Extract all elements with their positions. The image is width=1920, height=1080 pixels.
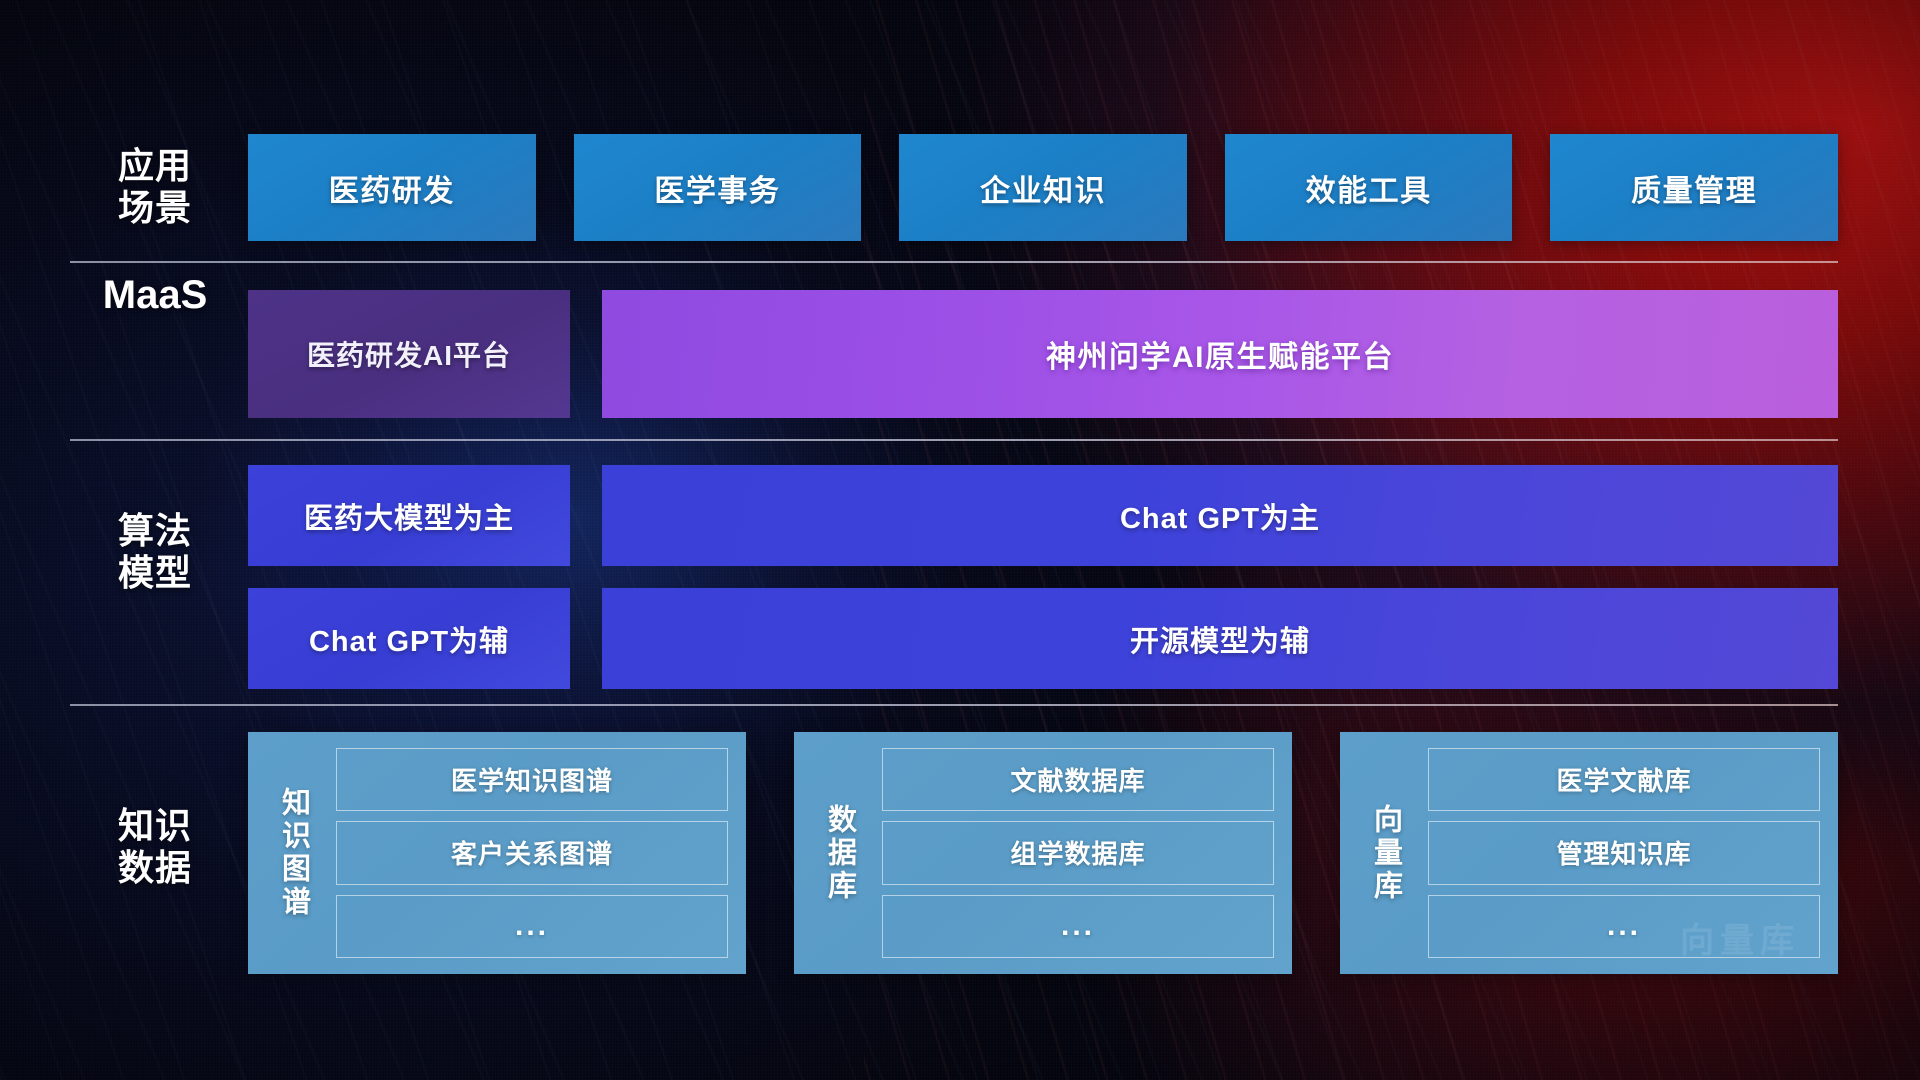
knowledge-item-customer-relation-graph[interactable]: 客户关系图谱 [336,821,728,884]
scenario-box-enterprise-knowledge[interactable]: 企业知识 [899,134,1187,241]
knowledge-panel-label-vector-store: 向量库 [1356,748,1414,958]
scenario-box-quality-management[interactable]: 质量管理 [1550,134,1838,241]
knowledge-item-more-vector-store[interactable]: ... [1428,895,1820,958]
scenario-box-medical-affairs[interactable]: 医学事务 [574,134,862,241]
algorithm-model-row-primary: 医药大模型为主 Chat GPT为主 [248,465,1838,566]
knowledge-panel-label-knowledge-graph: 知识图谱 [264,748,322,958]
maas-box-shenzhou-platform[interactable]: 神州问学AI原生赋能平台 [602,290,1838,418]
knowledge-item-list-knowledge-graph: 医学知识图谱 客户关系图谱 ... [336,748,728,958]
row-divider-3 [70,704,1838,706]
row-label-application-scenarios: 应用 场景 [70,145,240,230]
knowledge-panel-label-database: 数据库 [810,748,868,958]
maas-box-pharma-ai-platform[interactable]: 医药研发AI平台 [248,290,570,418]
row-label-algorithm-model: 算法 模型 [70,510,240,595]
algo-box-chatgpt-secondary[interactable]: Chat GPT为辅 [248,588,570,689]
knowledge-data-panels: 知识图谱 医学知识图谱 客户关系图谱 ... 数据库 文献数据库 组学数据库 .… [248,732,1838,974]
knowledge-item-more-database[interactable]: ... [882,895,1274,958]
knowledge-item-medical-literature-store[interactable]: 医学文献库 [1428,748,1820,811]
scenario-box-pharma-rd[interactable]: 医药研发 [248,134,536,241]
knowledge-item-list-database: 文献数据库 组学数据库 ... [882,748,1274,958]
application-scenario-boxes: 医药研发 医学事务 企业知识 效能工具 质量管理 [248,134,1838,241]
knowledge-item-omics-database[interactable]: 组学数据库 [882,821,1274,884]
algorithm-model-row-secondary: Chat GPT为辅 开源模型为辅 [248,588,1838,689]
knowledge-panel-database[interactable]: 数据库 文献数据库 组学数据库 ... [794,732,1292,974]
algorithm-model-grid: 医药大模型为主 Chat GPT为主 Chat GPT为辅 开源模型为辅 [248,465,1838,689]
scenario-box-efficiency-tools[interactable]: 效能工具 [1225,134,1513,241]
knowledge-item-more-knowledge-graph[interactable]: ... [336,895,728,958]
algo-box-chatgpt-primary[interactable]: Chat GPT为主 [602,465,1838,566]
knowledge-item-list-vector-store: 医学文献库 管理知识库 ... [1428,748,1820,958]
row-divider-2 [70,439,1838,441]
knowledge-item-management-knowledge-store[interactable]: 管理知识库 [1428,821,1820,884]
knowledge-item-medical-knowledge-graph[interactable]: 医学知识图谱 [336,748,728,811]
maas-boxes: 医药研发AI平台 神州问学AI原生赋能平台 [248,290,1838,418]
row-divider-1 [70,261,1838,263]
slide-canvas: 应用 场景 医药研发 医学事务 企业知识 效能工具 质量管理 MaaS 医药研发… [0,0,1920,1080]
knowledge-item-literature-database[interactable]: 文献数据库 [882,748,1274,811]
knowledge-panel-knowledge-graph[interactable]: 知识图谱 医学知识图谱 客户关系图谱 ... [248,732,746,974]
algo-box-pharma-large-model-primary[interactable]: 医药大模型为主 [248,465,570,566]
row-label-maas: MaaS [70,272,240,319]
knowledge-panel-vector-store[interactable]: 向量库 医学文献库 管理知识库 ... [1340,732,1838,974]
row-label-knowledge-data: 知识 数据 [70,805,240,890]
algo-box-opensource-secondary[interactable]: 开源模型为辅 [602,588,1838,689]
diagram-content: 应用 场景 医药研发 医学事务 企业知识 效能工具 质量管理 MaaS 医药研发… [0,0,1920,1080]
